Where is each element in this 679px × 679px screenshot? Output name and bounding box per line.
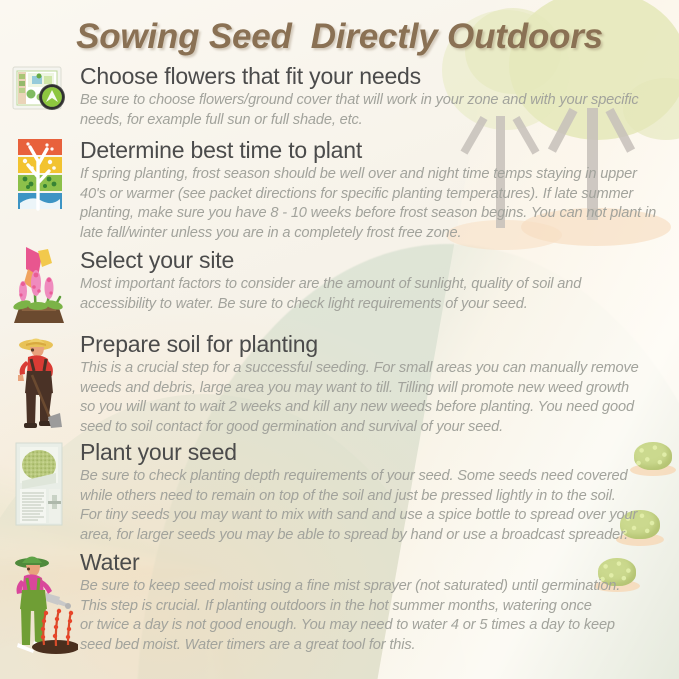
step-item: Choose flowers that fit your needs Be su… [0, 63, 679, 137]
step-title: Prepare soil for planting [80, 331, 673, 358]
step-body: Water Be sure to keep seed moist using a… [74, 549, 679, 655]
four-seasons-tree-icon [8, 137, 74, 220]
step-text: If spring planting, frost season should … [80, 165, 673, 243]
infographic-poster: Sowing Seed Directly Outdoors [0, 0, 679, 679]
step-item: Water Be sure to keep seed moist using a… [0, 549, 679, 659]
step-text: This is a crucial step for a successful … [80, 359, 673, 437]
seed-packet-icon [8, 439, 74, 536]
poster-content: Sowing Seed Directly Outdoors [0, 0, 679, 679]
step-title: Select your site [80, 247, 673, 274]
step-text: Be sure to check planting depth requirem… [80, 467, 673, 545]
step-text: Be sure to keep seed moist using a fine … [80, 577, 673, 655]
gardener-with-shovel-icon [8, 331, 74, 436]
steps-list: Choose flowers that fit your needs Be su… [0, 63, 679, 659]
step-title: Choose flowers that fit your needs [80, 63, 673, 90]
garden-plan-compass-icon [8, 63, 74, 130]
step-body: Determine best time to plant If spring p… [74, 137, 679, 243]
page-title: Sowing Seed Directly Outdoors [0, 17, 679, 57]
step-body: Choose flowers that fit your needs Be su… [74, 63, 679, 130]
step-body: Select your site Most important factors … [74, 247, 679, 314]
step-item: Plant your seed Be sure to check plantin… [0, 439, 679, 549]
step-body: Plant your seed Be sure to check plantin… [74, 439, 679, 545]
step-text: Most important factors to consider are t… [80, 275, 673, 314]
step-item: Determine best time to plant If spring p… [0, 137, 679, 247]
step-body: Prepare soil for planting This is a cruc… [74, 331, 679, 437]
flower-planter-box-icon [8, 247, 74, 338]
step-item: Prepare soil for planting This is a cruc… [0, 331, 679, 439]
step-text: Be sure to choose flowers/ground cover t… [80, 91, 673, 130]
step-title: Water [80, 549, 673, 576]
gardener-watering-icon [8, 549, 74, 660]
step-title: Determine best time to plant [80, 137, 673, 164]
step-item: Select your site Most important factors … [0, 247, 679, 331]
step-title: Plant your seed [80, 439, 673, 466]
